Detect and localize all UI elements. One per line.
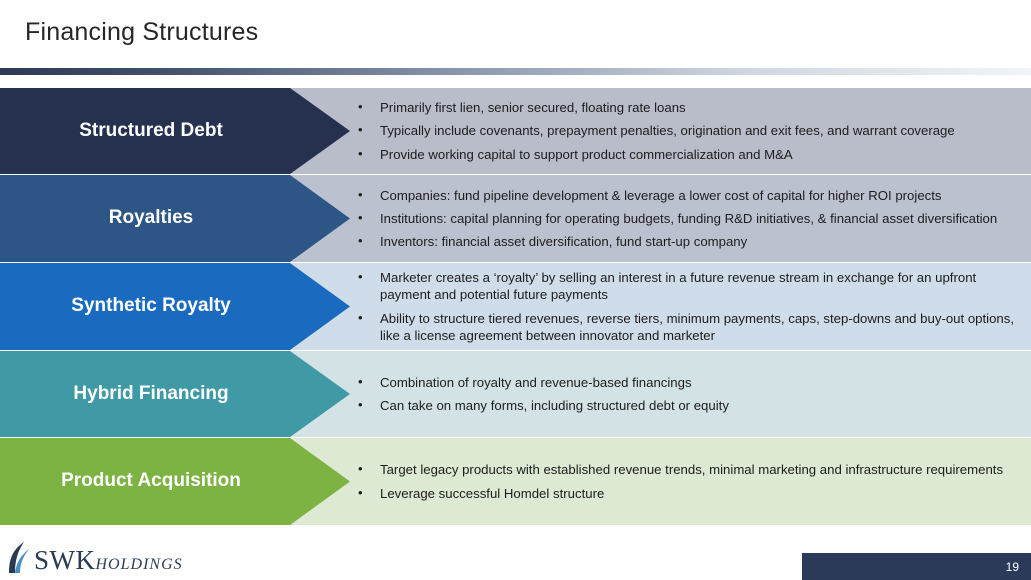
bullet-item: •Primarily first lien, senior secured, f… [358,99,1029,116]
bullet-text: Can take on many forms, including struct… [380,397,1029,414]
bullet-item: •Typically include covenants, prepayment… [358,122,1029,139]
bullet-item: •Combination of royalty and revenue-base… [358,374,1029,391]
title-divider-bar [0,68,1031,75]
logo-wordmark: SWKHOLDINGS [34,547,183,574]
bullet-text: Ability to structure tiered revenues, re… [380,310,1029,344]
bullet-item: •Leverage successful Homdel structure [358,485,1029,502]
bullet-item: •Inventors: financial asset diversificat… [358,233,1029,250]
row-arrow-2[interactable]: Royalties [0,175,350,262]
bullet-dot-icon: • [358,374,380,391]
bullet-item: •Can take on many forms, including struc… [358,397,1029,414]
bullet-text: Marketer creates a ‘royalty’ by selling … [380,269,1029,303]
bullet-dot-icon: • [358,122,380,139]
bullet-dot-icon: • [358,461,380,478]
row-arrow-3[interactable]: Synthetic Royalty [0,263,350,350]
bullet-text: Companies: fund pipeline development & l… [380,187,1029,204]
bullet-item: •Marketer creates a ‘royalty’ by selling… [358,269,1029,303]
bullet-dot-icon: • [358,485,380,502]
row-bullet-list: •Marketer creates a ‘royalty’ by selling… [358,263,1029,350]
logo-name: SWK [34,545,96,575]
row-label: Structured Debt [79,121,271,142]
row-arrow-4[interactable]: Hybrid Financing [0,351,350,437]
financing-row: Structured Debt•Primarily first lien, se… [0,88,1031,174]
row-arrow-5[interactable]: Product Acquisition [0,438,350,525]
bullet-item: •Target legacy products with established… [358,461,1029,478]
row-bullet-list: •Target legacy products with established… [358,438,1029,525]
bullet-text: Institutions: capital planning for opera… [380,210,1029,227]
bullet-text: Target legacy products with established … [380,461,1029,478]
bullet-dot-icon: • [358,269,380,286]
bullet-item: •Ability to structure tiered revenues, r… [358,310,1029,344]
bullet-text: Leverage successful Homdel structure [380,485,1029,502]
row-label: Royalties [109,208,241,229]
footer-page-bar [802,553,1031,580]
bullet-text: Primarily first lien, senior secured, fl… [380,99,1029,116]
bullet-dot-icon: • [358,210,380,227]
row-label: Synthetic Royalty [71,296,278,317]
financing-row: Royalties•Companies: fund pipeline devel… [0,175,1031,262]
bullet-dot-icon: • [358,187,380,204]
bullet-item: •Companies: fund pipeline development & … [358,187,1029,204]
bullet-text: Typically include covenants, prepayment … [380,122,1029,139]
row-label: Hybrid Financing [73,384,276,405]
row-arrow-1[interactable]: Structured Debt [0,88,350,174]
bullet-dot-icon: • [358,397,380,414]
row-bullet-list: •Primarily first lien, senior secured, f… [358,88,1029,174]
row-label: Product Acquisition [61,471,289,492]
financing-structure-rows: Structured Debt•Primarily first lien, se… [0,88,1031,525]
bullet-text: Inventors: financial asset diversificati… [380,233,1029,250]
slide-title: Financing Structures [25,18,258,47]
bullet-text: Combination of royalty and revenue-based… [380,374,1029,391]
swk-leaf-icon [6,540,32,574]
bullet-item: •Provide working capital to support prod… [358,146,1029,163]
row-bullet-list: •Combination of royalty and revenue-base… [358,351,1029,437]
bullet-dot-icon: • [358,146,380,163]
financing-row: Hybrid Financing•Combination of royalty … [0,351,1031,437]
financing-row: Product Acquisition•Target legacy produc… [0,438,1031,525]
bullet-item: •Institutions: capital planning for oper… [358,210,1029,227]
row-bullet-list: •Companies: fund pipeline development & … [358,175,1029,262]
bullet-dot-icon: • [358,99,380,116]
page-number: 19 [1006,560,1019,574]
bullet-dot-icon: • [358,233,380,250]
financing-row: Synthetic Royalty•Marketer creates a ‘ro… [0,263,1031,350]
bullet-text: Provide working capital to support produ… [380,146,1029,163]
logo-suffix: HOLDINGS [96,556,183,573]
bullet-dot-icon: • [358,310,380,327]
company-logo: SWKHOLDINGS [6,534,183,574]
